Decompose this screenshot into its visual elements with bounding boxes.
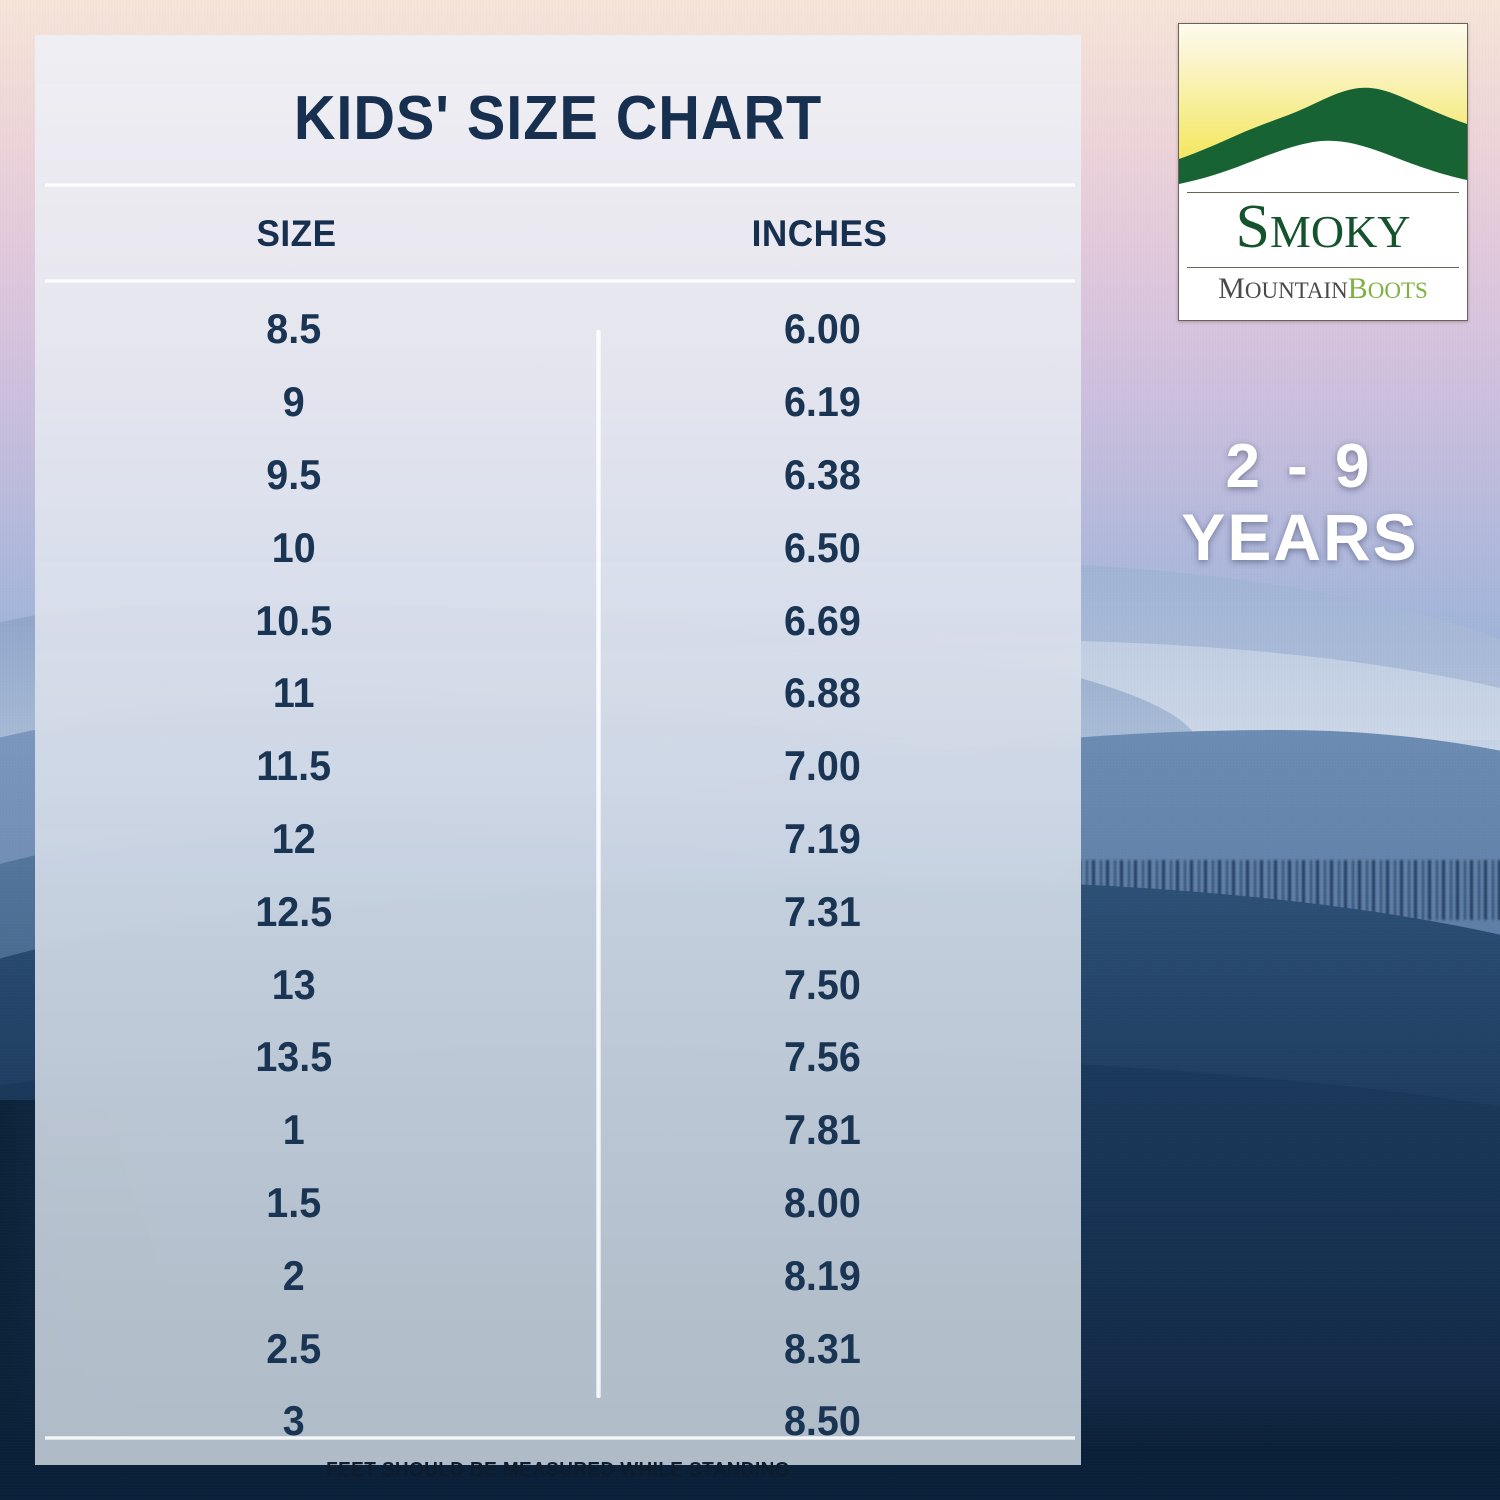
cell-inches: 8.31 [576,1328,1066,1370]
divider-header [45,279,1075,283]
table-row: 11 6.88 [35,657,1081,730]
cell-size: 10.5 [51,600,545,642]
table-row: 11.5 7.00 [35,730,1081,803]
table-row: 2.5 8.31 [35,1312,1081,1385]
logo-brand-name: SMOKY [1179,196,1467,258]
cell-size: 12.5 [51,891,545,933]
cell-size: 13.5 [51,1036,545,1078]
cell-size: 8.5 [51,308,545,350]
table-row: 9 6.19 [35,366,1081,439]
mountain-sunrise-icon [1179,24,1467,194]
page-title: KIDS' SIZE CHART [72,83,1045,154]
cell-size: 1.5 [51,1182,545,1224]
table-row: 3 8.50 [35,1385,1081,1458]
cell-size: 2 [51,1255,545,1297]
cell-inches: 7.31 [576,891,1066,933]
table-row: 13.5 7.56 [35,1021,1081,1094]
cell-size: 11.5 [51,745,545,787]
cell-inches: 7.81 [576,1109,1066,1151]
age-range-unit: YEARS [1100,501,1500,575]
logo-divider-top [1187,192,1459,193]
cell-size: 12 [51,818,545,860]
table-row: 2 8.19 [35,1239,1081,1312]
cell-inches: 6.19 [576,381,1066,423]
size-table-body: 8.5 6.00 9 6.19 9.5 6.38 10 6.50 10.5 6.… [35,293,1081,1458]
cell-size: 9.5 [51,454,545,496]
divider-top [45,183,1075,187]
footnote-text: FEET SHOULD BE MEASURED WHILE STANDING [61,1459,1055,1482]
cell-inches: 6.00 [576,308,1066,350]
cell-inches: 7.00 [576,745,1066,787]
table-row: 12 7.19 [35,803,1081,876]
cell-inches: 6.88 [576,672,1066,714]
cell-inches: 6.50 [576,527,1066,569]
table-row: 10.5 6.69 [35,584,1081,657]
logo-word-mountain: MOUNTAIN [1218,272,1348,305]
cell-inches: 6.69 [576,600,1066,642]
brand-logo: SMOKY MOUNTAINBOOTS [1178,23,1468,321]
table-row: 10 6.50 [35,511,1081,584]
cell-inches: 8.00 [576,1182,1066,1224]
cell-size: 13 [51,964,545,1006]
column-header-size: SIZE [48,213,545,255]
table-header-row: SIZE INCHES [35,213,1081,255]
age-range-badge: 2 - 9 YEARS [1100,432,1500,575]
cell-size: 11 [51,672,545,714]
age-range-value: 2 - 9 [1100,432,1500,501]
table-row: 8.5 6.00 [35,293,1081,366]
cell-size: 1 [51,1109,545,1151]
cell-inches: 7.56 [576,1036,1066,1078]
logo-brand-tagline: MOUNTAINBOOTS [1179,274,1467,304]
cell-size: 10 [51,527,545,569]
table-row: 12.5 7.31 [35,875,1081,948]
column-header-inches: INCHES [571,213,1068,255]
logo-word-boots: BOOTS [1348,272,1428,305]
cell-size: 9 [51,381,545,423]
logo-divider-bottom [1187,267,1459,268]
divider-footer [45,1436,1075,1440]
cell-inches: 7.50 [576,964,1066,1006]
cell-size: 2.5 [51,1328,545,1370]
table-row: 1 7.81 [35,1094,1081,1167]
cell-inches: 6.38 [576,454,1066,496]
table-row: 13 7.50 [35,948,1081,1021]
size-chart-panel: KIDS' SIZE CHART SIZE INCHES 8.5 6.00 9 … [35,35,1081,1465]
table-row: 9.5 6.38 [35,439,1081,512]
table-row: 1.5 8.00 [35,1167,1081,1240]
cell-inches: 8.19 [576,1255,1066,1297]
cell-inches: 7.19 [576,818,1066,860]
